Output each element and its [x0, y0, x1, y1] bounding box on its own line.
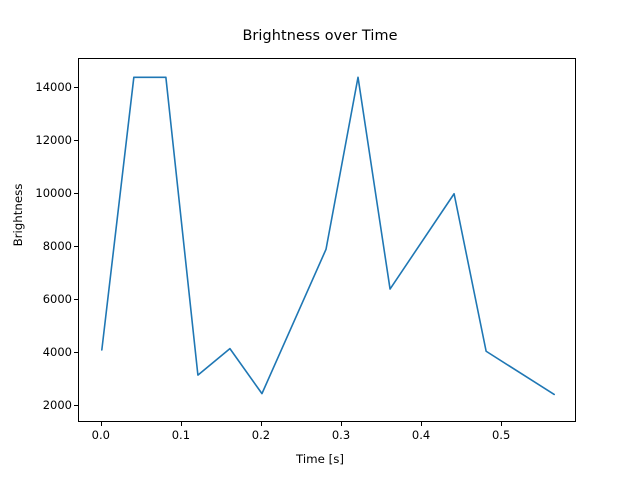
x-tick-label: 0.1	[151, 428, 211, 442]
x-tick-label: 0.3	[311, 428, 371, 442]
x-tick-mark	[261, 422, 262, 426]
x-tick-mark	[501, 422, 502, 426]
x-tick-label: 0.4	[391, 428, 451, 442]
brightness-line-series	[102, 77, 554, 394]
x-tick-mark	[181, 422, 182, 426]
y-tick-mark	[74, 87, 78, 88]
y-axis-label: Brightness	[11, 155, 25, 275]
chart-title: Brightness over Time	[0, 28, 640, 44]
matplotlib-figure: Brightness over Time 2000400060008000100…	[0, 0, 640, 480]
x-axis-label: Time [s]	[0, 452, 640, 466]
x-tick-label: 0.2	[231, 428, 291, 442]
y-tick-label: 4000	[12, 345, 72, 359]
y-tick-label: 2000	[12, 398, 72, 412]
plot-axes-frame	[78, 58, 576, 422]
y-tick-mark	[74, 193, 78, 194]
y-tick-mark	[74, 299, 78, 300]
x-tick-label: 0.0	[71, 428, 131, 442]
y-tick-mark	[74, 405, 78, 406]
x-axis-tick-labels: 0.00.10.20.30.40.5	[0, 428, 640, 448]
y-tick-mark	[74, 246, 78, 247]
y-tick-label: 6000	[12, 292, 72, 306]
line-chart-svg	[79, 59, 577, 423]
x-tick-mark	[101, 422, 102, 426]
x-tick-mark	[421, 422, 422, 426]
y-tick-mark	[74, 352, 78, 353]
y-tick-label: 14000	[12, 80, 72, 94]
y-tick-mark	[74, 140, 78, 141]
x-tick-label: 0.5	[471, 428, 531, 442]
y-tick-label: 12000	[12, 133, 72, 147]
x-tick-mark	[341, 422, 342, 426]
